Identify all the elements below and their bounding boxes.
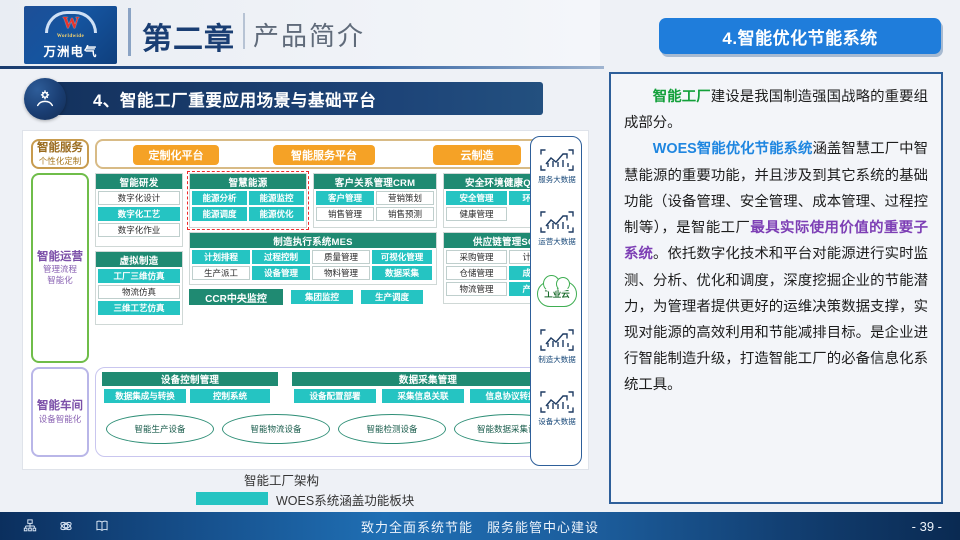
chip-mes-2[interactable]: 质量管理 xyxy=(312,250,370,264)
module-mes: 制造执行系统MES 计划排程 过程控制 质量管理 可视化管理 生产派工 设备管理… xyxy=(189,232,437,285)
module-smart-rd: 智能研发 数字化设计 数字化工艺 数字化作业 xyxy=(95,173,183,247)
logo-company-name: 万洲电气 xyxy=(43,41,97,60)
module-smart-rd-title: 智能研发 xyxy=(96,174,182,189)
chip-scm-4[interactable]: 物流管理 xyxy=(446,282,507,296)
chip-crm-3[interactable]: 销售预测 xyxy=(376,207,434,221)
industrial-cloud-label: 工业云 xyxy=(544,288,570,300)
workshop-area: 设备控制管理 数据集成与转换 控制系统 数据采集管理 设备配置部署 采集信息关联… xyxy=(95,367,577,457)
logo-letter-w: W xyxy=(45,13,97,33)
title-separator xyxy=(243,13,245,49)
chip-da-1[interactable]: 采集信息关联 xyxy=(382,389,464,403)
bigdata-service: 服务大数据 xyxy=(535,145,579,185)
description-card: 智能工厂建设是我国制造强国战略的重要组成部分。 WOES智能优化节能系统涵盖智慧… xyxy=(609,72,943,504)
module-smart-energy: 智慧能源 能源分析 能源监控 能源调度 能源优化 xyxy=(189,173,307,228)
chip-vm-0[interactable]: 工厂三维仿真 xyxy=(98,269,180,283)
module-device-control-title: 设备控制管理 xyxy=(102,372,278,386)
chip-vm-2[interactable]: 三维工艺仿真 xyxy=(98,301,180,315)
bigdata-equipment-label: 设备大数据 xyxy=(535,416,579,427)
page-header: W Worldwide 万洲电气 第二章 产品简介 4.智能优化节能系统 xyxy=(0,0,960,68)
header-divider xyxy=(128,8,131,56)
description-paragraph-2: WOES智能优化节能系统涵盖智慧工厂中智慧能源的重要功能，并且涉及到其它系统的基… xyxy=(624,136,928,398)
chip-ccr-0[interactable]: 集团监控 xyxy=(291,290,353,304)
chip-ccr-1[interactable]: 生产调度 xyxy=(361,290,423,304)
bigdata-chart-icon xyxy=(535,207,579,237)
module-smart-energy-title: 智慧能源 xyxy=(190,174,306,189)
company-logo: W Worldwide 万洲电气 xyxy=(24,6,117,64)
desc-p2-tail: 。依托数字化技术和平台对能源进行实时监测、分析、优化和调度，深度挖掘企业的节能潜… xyxy=(624,246,928,393)
topic-pill: 4.智能优化节能系统 xyxy=(659,18,941,54)
description-text: 智能工厂建设是我国制造强国战略的重要组成部分。 WOES智能优化节能系统涵盖智慧… xyxy=(624,84,928,399)
chip-mes-1[interactable]: 过程控制 xyxy=(252,250,310,264)
module-device-control: 设备控制管理 数据集成与转换 控制系统 xyxy=(102,372,278,406)
topic-pill-label: 4.智能优化节能系统 xyxy=(722,24,877,49)
section-title-bar: 4、智能工厂重要应用场景与基础平台 xyxy=(55,82,543,115)
platform-custom[interactable]: 定制化平台 xyxy=(133,145,219,165)
chip-energy-2[interactable]: 能源调度 xyxy=(192,207,247,221)
device-smart-logistics[interactable]: 智能物流设备 xyxy=(222,414,330,444)
page-number: - 39 - xyxy=(912,512,942,540)
footer-slogan: 致力全面系统节能 服务能管中心建设 xyxy=(0,512,960,540)
module-virtual-manufacturing-title: 虚拟制造 xyxy=(96,252,182,267)
bigdata-chart-icon xyxy=(535,145,579,175)
bigdata-service-label: 服务大数据 xyxy=(535,174,579,185)
cloud-icon: 工业云 xyxy=(537,281,577,307)
chip-smart-rd-1[interactable]: 数字化工艺 xyxy=(98,207,180,221)
bigdata-equipment: 设备大数据 xyxy=(535,387,579,427)
stage-smart-workshop-sub: 设备智能化 xyxy=(39,414,82,424)
legend-swatch xyxy=(196,492,268,505)
logo-mark-icon: W xyxy=(45,11,97,33)
device-smart-inspection[interactable]: 智能检测设备 xyxy=(338,414,446,444)
platform-cloud[interactable]: 云制造 xyxy=(433,145,521,165)
module-data-acquisition-title: 数据采集管理 xyxy=(292,372,564,386)
chip-qhse-2[interactable]: 健康管理 xyxy=(446,207,507,221)
chip-qhse-0[interactable]: 安全管理 xyxy=(446,191,507,205)
chapter-title: 第二章 xyxy=(142,14,235,58)
stage-smart-operation-title: 智能运营 xyxy=(37,251,83,264)
logo-worldwide-text: Worldwide xyxy=(57,34,84,39)
chip-da-0[interactable]: 设备配置部署 xyxy=(294,389,376,403)
chip-smart-rd-2[interactable]: 数字化作业 xyxy=(98,223,180,237)
chip-mes-3[interactable]: 可视化管理 xyxy=(372,250,432,264)
stage-smart-operation: 智能运营 管理流程 智能化 xyxy=(31,173,89,363)
header-rule xyxy=(0,66,604,69)
chip-energy-1[interactable]: 能源监控 xyxy=(249,191,304,205)
stage-smart-service-sub: 个性化定制 xyxy=(39,156,82,166)
module-mes-title: 制造执行系统MES xyxy=(190,233,436,248)
bigdata-chart-icon xyxy=(535,387,579,417)
operation-modules-area: 智能研发 数字化设计 数字化工艺 数字化作业 虚拟制造 工厂三维仿真 物流仿真 … xyxy=(95,173,577,363)
stage-smart-service: 智能服务 个性化定制 xyxy=(31,139,89,169)
module-crm: 客户关系管理CRM 客户管理 营销策划 销售管理 销售预测 xyxy=(313,173,437,228)
bigdata-operation: 运营大数据 xyxy=(535,207,579,247)
device-smart-production[interactable]: 智能生产设备 xyxy=(106,414,214,444)
chip-mes-5[interactable]: 设备管理 xyxy=(252,266,310,280)
legend-label: WOES系统涵盖功能板块 xyxy=(276,490,414,509)
smart-factory-architecture-diagram: 智能服务 个性化定制 智能运营 管理流程 智能化 智能车间 设备智能化 定制化平… xyxy=(22,130,589,470)
module-crm-title: 客户关系管理CRM xyxy=(314,174,436,189)
hand-gear-icon xyxy=(24,78,66,120)
chip-crm-0[interactable]: 客户管理 xyxy=(316,191,374,205)
bigdata-manufacturing-label: 制造大数据 xyxy=(535,354,579,365)
kw-woes: WOES智能优化节能系统 xyxy=(653,141,813,157)
chip-mes-4[interactable]: 生产派工 xyxy=(192,266,250,280)
platform-row: 定制化平台 智能服务平台 云制造 xyxy=(95,139,577,169)
stage-smart-operation-sub: 管理流程 智能化 xyxy=(43,264,77,284)
chip-vm-1[interactable]: 物流仿真 xyxy=(98,285,180,299)
chip-crm-1[interactable]: 营销策划 xyxy=(376,191,434,205)
module-data-acquisition: 数据采集管理 设备配置部署 采集信息关联 信息协议转换 xyxy=(292,372,564,406)
platform-service[interactable]: 智能服务平台 xyxy=(273,145,375,165)
chip-mes-0[interactable]: 计划排程 xyxy=(192,250,250,264)
bigdata-manufacturing: 制造大数据 xyxy=(535,325,579,365)
chip-crm-2[interactable]: 销售管理 xyxy=(316,207,374,221)
chip-scm-0[interactable]: 采购管理 xyxy=(446,250,507,264)
chip-scm-2[interactable]: 仓储管理 xyxy=(446,266,507,280)
kw-smart-factory: 智能工厂 xyxy=(653,89,711,105)
chip-mes-6[interactable]: 物料管理 xyxy=(312,266,370,280)
diagram-caption: 智能工厂架构 xyxy=(244,470,319,489)
stage-smart-workshop: 智能车间 设备智能化 xyxy=(31,367,89,457)
chip-smart-rd-0[interactable]: 数字化设计 xyxy=(98,191,180,205)
chip-dc-0[interactable]: 数据集成与转换 xyxy=(104,389,186,403)
bigdata-operation-label: 运营大数据 xyxy=(535,236,579,247)
bigdata-column: 服务大数据 运营大数据 工业云 制造大数据 xyxy=(530,136,582,466)
chip-mes-7[interactable]: 数据采集 xyxy=(372,266,432,280)
section-title-text: 4、智能工厂重要应用场景与基础平台 xyxy=(93,87,376,111)
description-paragraph-1: 智能工厂建设是我国制造强国战略的重要组成部分。 xyxy=(624,84,928,136)
stage-smart-service-title: 智能服务 xyxy=(37,142,83,155)
chip-dc-1[interactable]: 控制系统 xyxy=(190,389,270,403)
bigdata-chart-icon xyxy=(535,325,579,355)
page-footer: 致力全面系统节能 服务能管中心建设 - 39 - xyxy=(0,512,960,540)
stage-smart-workshop-title: 智能车间 xyxy=(37,400,83,413)
chapter-subtitle: 产品简介 xyxy=(253,16,365,53)
chip-energy-0[interactable]: 能源分析 xyxy=(192,191,247,205)
ccr-title-bar: CCR中央监控 xyxy=(189,289,283,305)
chip-energy-3[interactable]: 能源优化 xyxy=(249,207,304,221)
module-virtual-manufacturing: 虚拟制造 工厂三维仿真 物流仿真 三维工艺仿真 xyxy=(95,251,183,325)
